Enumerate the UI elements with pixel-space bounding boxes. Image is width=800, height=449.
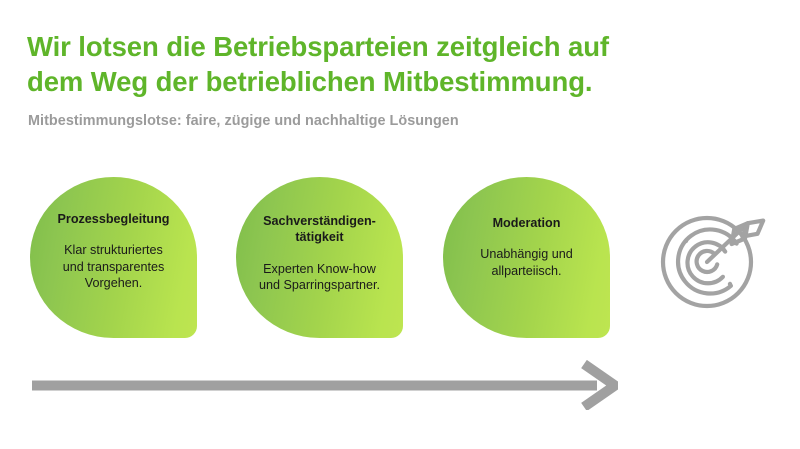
pin-card-title: Sachverständigen- tätigkeit: [263, 213, 376, 245]
pin-card-title: Prozessbegleitung: [58, 211, 170, 227]
pin-card-prozessbegleitung: Prozessbegleitung Klar strukturiertes un…: [30, 177, 197, 338]
pin-card-body: Experten Know-how und Sparringspartner.: [259, 261, 380, 294]
pin-card-moderation: Moderation Unabhängig und allparteiisch.: [443, 177, 610, 338]
pin-card-content: Sachverständigen- tätigkeit Experten Kno…: [250, 173, 389, 334]
pin-card-body: Klar strukturiertes und transparentes Vo…: [63, 242, 165, 292]
infographic-slide: Wir lotsen die Betriebsparteien zeitglei…: [0, 0, 800, 449]
target-icon: [657, 200, 775, 312]
progress-arrow-icon: [32, 360, 618, 410]
pin-card-content: Moderation Unabhängig und allparteiisch.: [457, 167, 596, 328]
pin-card-body: Unabhängig und allparteiisch.: [480, 246, 572, 279]
pin-card-sachverstaendigentaetigkeit: Sachverständigen- tätigkeit Experten Kno…: [236, 177, 403, 338]
pin-card-title: Moderation: [493, 215, 561, 231]
pin-card-content: Prozessbegleitung Klar strukturiertes un…: [44, 171, 183, 332]
